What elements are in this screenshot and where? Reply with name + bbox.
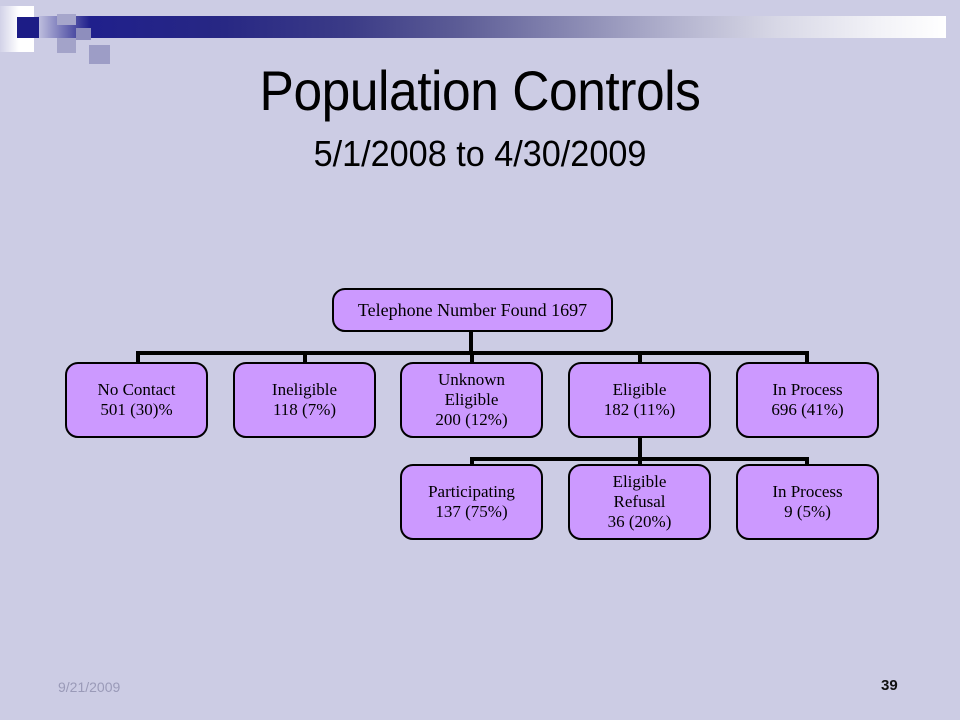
node-line: 118 (7%) — [273, 400, 336, 420]
node-line: Participating — [428, 482, 515, 502]
node-line: 501 (30)% — [100, 400, 172, 420]
node-participating[interactable]: Participating 137 (75%) — [400, 464, 543, 540]
node-line: Ineligible — [272, 380, 337, 400]
node-line: 182 (11%) — [604, 400, 676, 420]
node-telephone-number-found[interactable]: Telephone Number Found 1697 — [332, 288, 613, 332]
node-line: In Process — [772, 482, 842, 502]
node-line: 200 (12%) — [435, 410, 507, 430]
node-eligible[interactable]: Eligible 182 (11%) — [568, 362, 711, 438]
node-line: Telephone Number Found 1697 — [358, 300, 587, 320]
node-line: Eligible — [613, 472, 667, 492]
node-unknown-eligible[interactable]: Unknown Eligible 200 (12%) — [400, 362, 543, 438]
node-line: No Contact — [98, 380, 176, 400]
node-line: In Process — [772, 380, 842, 400]
node-line: Unknown — [438, 370, 505, 390]
node-ineligible[interactable]: Ineligible 118 (7%) — [233, 362, 376, 438]
node-line: Refusal — [614, 492, 666, 512]
node-in-process[interactable]: In Process 696 (41%) — [736, 362, 879, 438]
node-line: Eligible — [613, 380, 667, 400]
node-line: 9 (5%) — [784, 502, 831, 522]
node-eligible-refusal[interactable]: Eligible Refusal 36 (20%) — [568, 464, 711, 540]
footer-date: 9/21/2009 — [58, 679, 120, 695]
org-chart: Telephone Number Found 1697 No Contact 5… — [0, 0, 960, 720]
node-no-contact[interactable]: No Contact 501 (30)% — [65, 362, 208, 438]
node-in-process-2[interactable]: In Process 9 (5%) — [736, 464, 879, 540]
node-line: 696 (41%) — [771, 400, 843, 420]
footer-page-number: 39 — [881, 677, 898, 694]
node-line: 36 (20%) — [608, 512, 672, 532]
slide-canvas: Population Controls 5/1/2008 to 4/30/200… — [0, 0, 960, 720]
node-line: Eligible — [445, 390, 499, 410]
node-line: 137 (75%) — [435, 502, 507, 522]
